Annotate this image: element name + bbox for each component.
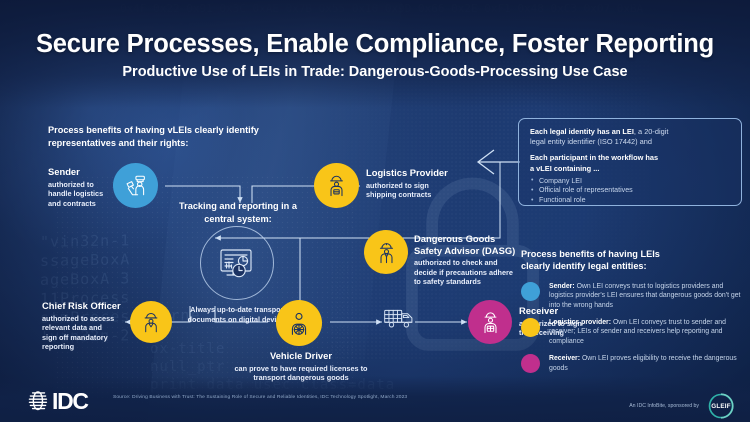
legend-dot-receiver bbox=[521, 354, 540, 373]
idc-wordmark: IDC bbox=[52, 390, 88, 413]
gleif-wordmark: GLEIF bbox=[711, 403, 731, 410]
sponsor-block: An IDC InfoBite, sponsored by GLEIF bbox=[629, 391, 736, 421]
node-chief-risk-officer-title: Chief Risk Officer bbox=[42, 300, 128, 312]
page-title: Secure Processes, Enable Compliance, Fos… bbox=[0, 30, 750, 59]
legend-heading: Process benefits of having LEIs clearly … bbox=[521, 248, 749, 273]
lei-legal-entity-legend: Process benefits of having LEIs clearly … bbox=[521, 248, 749, 380]
dashboard-monitor-icon bbox=[200, 226, 274, 300]
callout-bullet-2: Functional role bbox=[530, 196, 731, 206]
callout-bullet-list: Company LEI Official role of representat… bbox=[530, 177, 731, 206]
driver-icon bbox=[276, 300, 322, 346]
legend-label-sender: Sender: bbox=[549, 283, 575, 290]
node-vehicle-driver-title: Vehicle Driver bbox=[196, 350, 406, 362]
node-sender-sub-l2: handle logistics bbox=[48, 189, 118, 199]
callout-para-2: Each participant in the workflow has a v… bbox=[530, 153, 731, 173]
callout-para1-line2: legal entity identifier (ISO 17442) and bbox=[530, 137, 652, 146]
node-driver-sub-l1: can prove to have required licenses to bbox=[196, 364, 406, 374]
process-benefits-heading: Process benefits of having vLEIs clearly… bbox=[48, 124, 298, 149]
legend-item-logistics-provider: Logistics provider: Own LEI conveys trus… bbox=[521, 317, 749, 346]
node-sender-sub: authorized to handle logistics and contr… bbox=[48, 180, 118, 209]
node-logistics-provider-title: Logistics Provider bbox=[366, 167, 496, 179]
node-logistics-provider-sub: authorized to sign shipping contracts bbox=[366, 181, 496, 200]
legend-dot-logistics-provider bbox=[521, 318, 540, 337]
risk-officer-icon bbox=[130, 301, 172, 343]
legend-label-receiver: Receiver: bbox=[549, 355, 580, 362]
safety-advisor-icon bbox=[364, 230, 408, 274]
node-chief-risk-officer-text: Chief Risk Officer authorized to access … bbox=[42, 300, 128, 352]
sponsor-text: An IDC InfoBite, sponsored by bbox=[629, 403, 699, 409]
legend-text-sender: Sender: Own LEI conveys trust to logisti… bbox=[549, 281, 749, 310]
node-logistics-provider-sub-l2: shipping contracts bbox=[366, 190, 496, 200]
legend-item-receiver: Receiver: Own LEI proves eligibility to … bbox=[521, 353, 749, 373]
legend-text-logistics-provider: Logistics provider: Own LEI conveys trus… bbox=[549, 317, 749, 346]
legend-label-logistics-provider: Logistics provider: bbox=[549, 319, 611, 326]
node-sender-title: Sender bbox=[48, 166, 118, 178]
lei-definition-callout: Each legal identity has an LEI, a 20-dig… bbox=[518, 118, 742, 206]
node-dasg-title-l1: Dangerous Goods bbox=[414, 233, 564, 245]
infographic-canvas: 0x4F 0x22 0x91 0x3C 0xAE 0x7B 0x55 0x10 … bbox=[0, 0, 750, 422]
legend-body-sender: Own LEI conveys trust to logistics provi… bbox=[549, 283, 740, 309]
page-subtitle: Productive Use of LEIs in Trade: Dangero… bbox=[0, 64, 750, 80]
delivery-truck-icon bbox=[383, 306, 417, 330]
node-chief-risk-officer-sub: authorized to access relevant data and s… bbox=[42, 314, 128, 352]
legend-item-sender: Sender: Own LEI conveys trust to logisti… bbox=[521, 281, 749, 310]
callout-para2-l2: a vLEI containing ... bbox=[530, 164, 599, 173]
central-system-label: Tracking and reporting in a central syst… bbox=[163, 200, 313, 225]
idc-globe-icon bbox=[28, 389, 50, 413]
node-cro-sub-l1: authorized to access bbox=[42, 314, 128, 324]
node-vehicle-driver-text: Vehicle Driver can prove to have require… bbox=[196, 350, 406, 383]
node-cro-sub-l4: reporting bbox=[42, 342, 128, 352]
callout-para1-rest: , a 20-digit bbox=[634, 127, 669, 136]
node-logistics-provider-text: Logistics Provider authorized to sign sh… bbox=[366, 167, 496, 200]
sender-person-icon bbox=[113, 163, 158, 208]
legend-heading-l1: Process benefits of having LEIs bbox=[521, 248, 749, 260]
gleif-logo: GLEIF bbox=[706, 391, 736, 421]
node-driver-sub-l2: transport dangerous goods bbox=[196, 373, 406, 383]
central-system-label-l2: central system: bbox=[163, 213, 313, 226]
callout-para-1: Each legal identity has an LEI, a 20-dig… bbox=[530, 127, 731, 147]
callout-para2-l1: Each participant in the workflow has bbox=[530, 153, 658, 162]
process-benefits-heading-line1: Process benefits of having vLEIs clearly… bbox=[48, 124, 298, 137]
source-citation: Source: Driving Business with Trust: The… bbox=[113, 394, 533, 401]
node-sender-sub-l3: and contracts bbox=[48, 199, 118, 209]
node-logistics-provider-sub-l1: authorized to sign bbox=[366, 181, 496, 191]
logistics-worker-icon bbox=[314, 163, 359, 208]
callout-para1-bold: Each legal identity has an LEI bbox=[530, 127, 634, 136]
node-cro-sub-l3: sign off mandatory bbox=[42, 333, 128, 343]
callout-bullet-1: Official role of representatives bbox=[530, 186, 731, 196]
callout-bullet-0: Company LEI bbox=[530, 177, 731, 187]
node-vehicle-driver-sub: can prove to have required licenses to t… bbox=[196, 364, 406, 383]
idc-logo: IDC bbox=[28, 389, 88, 413]
receiver-person-icon bbox=[468, 300, 512, 344]
node-sender-text: Sender authorized to handle logistics an… bbox=[48, 166, 118, 208]
central-system-label-l1: Tracking and reporting in a bbox=[163, 200, 313, 213]
legend-text-receiver: Receiver: Own LEI proves eligibility to … bbox=[549, 353, 749, 373]
process-benefits-heading-line2: representatives and their rights: bbox=[48, 137, 298, 150]
legend-dot-sender bbox=[521, 282, 540, 301]
node-cro-sub-l2: relevant data and bbox=[42, 323, 128, 333]
node-sender-sub-l1: authorized to bbox=[48, 180, 118, 190]
legend-heading-l2: clearly identify legal entities: bbox=[521, 260, 749, 272]
